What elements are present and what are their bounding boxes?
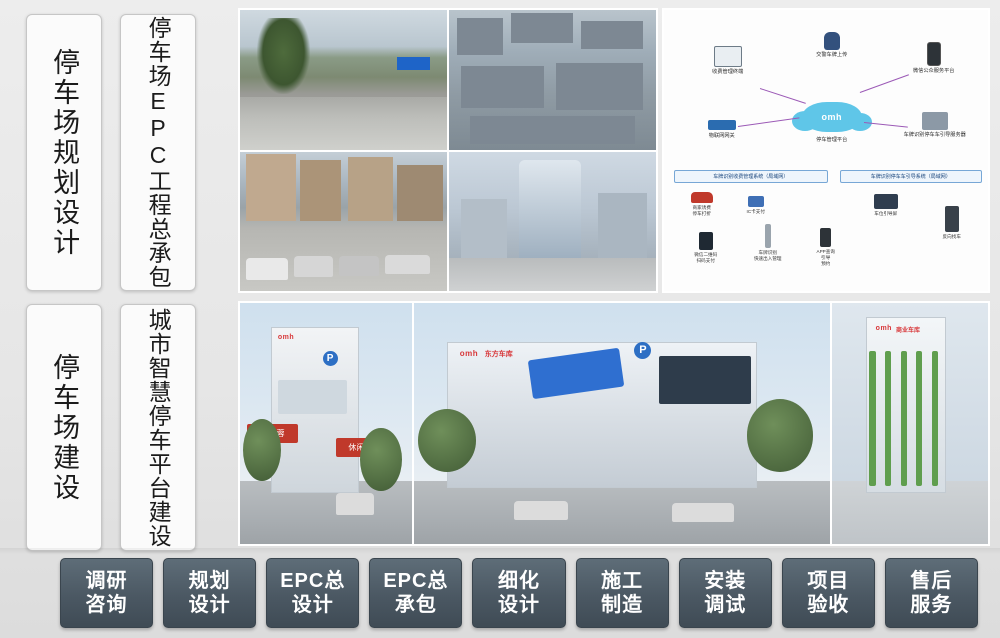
- device-member-parking-card: 商家诱费 停车打折: [676, 192, 728, 217]
- photo-surface-parking-lot: [240, 10, 447, 150]
- step-line-1: 售后: [910, 569, 952, 593]
- node-label: 交警车牌上传: [816, 52, 847, 58]
- guidance-screen-icon: [874, 194, 898, 209]
- building-block: [581, 21, 643, 49]
- parking-badge[interactable]: P: [634, 342, 651, 359]
- parking-badge[interactable]: P: [323, 351, 338, 366]
- step-line-1: 施工: [601, 569, 643, 593]
- car-shape: [339, 256, 378, 276]
- car-shape: [385, 255, 431, 275]
- building-block: [556, 63, 643, 110]
- ic-card-icon: [748, 196, 764, 207]
- band-plate-recognition-toll-system: 车牌识别收费管理系统（局域网）: [674, 170, 828, 183]
- step-line-1: EPC总: [280, 569, 345, 593]
- building-block: [511, 13, 573, 44]
- device-parking-space-guidance-screen: 车位引导屏: [860, 194, 912, 217]
- card-label: 停车场建设: [50, 353, 78, 503]
- node-label: 微信公众服务平台: [913, 68, 955, 74]
- car-shape: [368, 109, 399, 124]
- system-architecture-diagram: 收费管理终端 交警车牌上传 微信公众服务平台 物联网网关: [662, 8, 990, 293]
- cloud-platform-icon: omh: [802, 102, 862, 132]
- step-installation-commissioning[interactable]: 安装调试: [679, 558, 772, 628]
- step-epc-design[interactable]: EPC总设计: [266, 558, 359, 628]
- building-block: [457, 18, 503, 54]
- node-label: 车牌识别停车车引导服务器: [904, 132, 966, 138]
- building-block: [300, 160, 341, 221]
- step-line-1: 规划: [189, 569, 231, 593]
- car-shape: [672, 503, 734, 522]
- cloud-caption: 停车管理平台: [796, 136, 868, 143]
- step-line-2: 承包: [383, 593, 448, 617]
- step-line-1: EPC总: [383, 569, 448, 593]
- building-block: [470, 116, 636, 144]
- step-line-1: 细化: [498, 569, 540, 593]
- band-plate-recognition-guidance-system: 车牌识别停车车引导系统（局域网）: [840, 170, 982, 183]
- node-traffic-police-upload: 交警车牌上传: [800, 32, 864, 59]
- barrier-gate-icon: [765, 224, 771, 248]
- card-parking-lot-epc[interactable]: 停车场EPC工程总承包: [120, 14, 196, 291]
- node-wechat-public-service-platform: 微信公众服务平台: [902, 42, 966, 75]
- tree: [418, 409, 476, 472]
- smartphone-icon: [820, 228, 831, 247]
- road: [414, 481, 830, 544]
- rendering-parking-tower-left: omh P 国芙蓉 休闲购: [240, 303, 412, 544]
- photo-aerial-city: [449, 10, 656, 150]
- monitor-icon: [696, 46, 760, 67]
- band-label: 车牌识别停车车引导系统（局域网）: [871, 174, 951, 180]
- step-line-2: 设计: [498, 593, 540, 617]
- step-line-2: 调试: [704, 593, 746, 617]
- device-label: 车位引导屏: [874, 211, 897, 216]
- device-reverse-car-finding: 反向找车: [926, 206, 978, 240]
- device-wechat-qr-payment: 微信二维码 扫码支付: [680, 232, 732, 264]
- tree: [360, 428, 401, 491]
- rendering-parking-tower-right: omh 商业车库: [832, 303, 988, 544]
- car-shape: [246, 258, 287, 280]
- device-ic-card-payment: IC卡支付: [730, 196, 782, 215]
- led-billboard: [659, 356, 751, 404]
- building-sign: 东方车库: [485, 349, 513, 359]
- building-block: [461, 66, 544, 108]
- step-research-consulting[interactable]: 调研咨询: [60, 558, 153, 628]
- green-facade-strip: [901, 351, 907, 486]
- top-row: 收费管理终端 交警车牌上传 微信公众服务平台 物联网网关: [238, 8, 990, 293]
- building-block: [397, 165, 443, 221]
- card-parking-lot-construction[interactable]: 停车场建设: [26, 304, 102, 551]
- left-category-cards: 停车场规划设计 停车场EPC工程总承包 停车场建设 城市智慧停车平台建设: [18, 8, 218, 548]
- car-shape: [248, 112, 283, 130]
- building-block: [246, 154, 296, 221]
- police-officer-icon: [800, 32, 864, 50]
- device-label: 商家诱费 停车打折: [693, 205, 711, 216]
- slide-root: 停车场规划设计 停车场EPC工程总承包 停车场建设 城市智慧停车平台建设: [0, 0, 1000, 638]
- band-label: 车牌识别收费管理系统（局域网）: [713, 174, 788, 180]
- photo-office-tower: [449, 152, 656, 292]
- qr-code-icon: [699, 232, 713, 250]
- card-label: 城市智慧停车平台建设: [146, 308, 170, 548]
- omh-logo: omh: [460, 349, 478, 358]
- smartphone-icon: [902, 42, 966, 66]
- card-label: 停车场EPC工程总承包: [146, 16, 170, 289]
- omh-logo: omh: [278, 334, 294, 341]
- node-plate-recognition-guidance-server: 车牌识别停车车引导服务器: [896, 112, 974, 139]
- building-block: [461, 199, 507, 258]
- step-line-1: 项目: [807, 569, 849, 593]
- green-facade-strip: [932, 351, 938, 486]
- car-shape: [294, 256, 333, 277]
- device-label: 反向找车: [943, 234, 961, 239]
- step-line-2: 验收: [807, 593, 849, 617]
- building-sign: 商业车库: [896, 325, 920, 334]
- car-shape: [403, 109, 434, 123]
- street-ground: [449, 258, 656, 291]
- step-detailed-design[interactable]: 细化设计: [472, 558, 565, 628]
- process-step-bar: 调研咨询 规划设计 EPC总设计 EPC总承包 细化设计 施工制造 安装调试 项…: [60, 558, 978, 628]
- connector-line: [760, 88, 806, 104]
- node-iot-gateway: 物联网网关: [690, 116, 754, 140]
- step-line-1: 安装: [704, 569, 746, 593]
- step-after-sales-service[interactable]: 售后服务: [885, 558, 978, 628]
- car-shape: [514, 501, 568, 520]
- photo-residential-parking: [240, 152, 447, 292]
- device-label: IC卡支付: [747, 209, 765, 214]
- device-app-query-guidance-reservation: APP查询 引导 预约: [800, 228, 852, 267]
- step-planning-design[interactable]: 规划设计: [163, 558, 256, 628]
- car-shape: [290, 110, 323, 127]
- node-label: 收费管理终端: [712, 69, 743, 75]
- diagram-canvas: 收费管理终端 交警车牌上传 微信公众服务平台 物联网网关: [664, 10, 988, 291]
- building-block: [348, 157, 394, 221]
- green-facade-strip: [869, 351, 875, 486]
- device-label: 车牌识别 快速出入管理: [754, 250, 782, 261]
- connector-line: [860, 74, 909, 93]
- step-epc-contracting[interactable]: EPC总承包: [369, 558, 462, 628]
- device-plate-recognition-fast-entry: 车牌识别 快速出入管理: [742, 224, 794, 262]
- main-tower: [519, 160, 581, 258]
- node-label: 物联网网关: [709, 133, 735, 139]
- photo-collage: [238, 8, 658, 293]
- card-city-smart-parking-platform[interactable]: 城市智慧停车平台建设: [120, 304, 196, 551]
- divider-shadow: [0, 548, 1000, 554]
- cloud-logo-text: omh: [822, 112, 843, 122]
- step-line-2: 设计: [189, 593, 231, 617]
- step-line-2: 设计: [280, 593, 345, 617]
- content-area: 收费管理终端 交警车牌上传 微信公众服务平台 物联网网关: [238, 8, 990, 546]
- car-shape: [329, 110, 362, 125]
- step-line-2: 服务: [910, 593, 952, 617]
- facade-screen: [278, 380, 347, 414]
- card-parking-lot-planning-design[interactable]: 停车场规划设计: [26, 14, 102, 291]
- green-facade-strip: [885, 351, 891, 486]
- kiosk-icon: [945, 206, 959, 232]
- tree: [747, 399, 814, 471]
- badge-label: P: [639, 344, 646, 356]
- blue-signboard: [397, 57, 430, 70]
- building-block: [598, 193, 648, 257]
- car-shape: [336, 493, 374, 515]
- card-label: 停车场规划设计: [50, 48, 78, 258]
- step-line-1: 调研: [86, 569, 128, 593]
- rendering-row: omh P 国芙蓉 休闲购 omh 东方车库: [238, 301, 990, 546]
- step-line-2: 制造: [601, 593, 643, 617]
- badge-label: P: [327, 353, 334, 364]
- device-label: 微信二维码 扫码支付: [694, 252, 717, 263]
- node-toll-management-terminal: 收费管理终端: [696, 46, 760, 76]
- car-icon: [691, 192, 713, 203]
- device-label: APP查询 引导 预约: [817, 249, 835, 266]
- omh-logo: omh: [876, 325, 892, 332]
- step-project-acceptance[interactable]: 项目验收: [782, 558, 875, 628]
- step-line-2: 咨询: [86, 593, 128, 617]
- rendering-parking-building-center: omh 东方车库 P: [414, 303, 830, 544]
- step-construction-manufacturing[interactable]: 施工制造: [576, 558, 669, 628]
- green-facade-strip: [916, 351, 922, 486]
